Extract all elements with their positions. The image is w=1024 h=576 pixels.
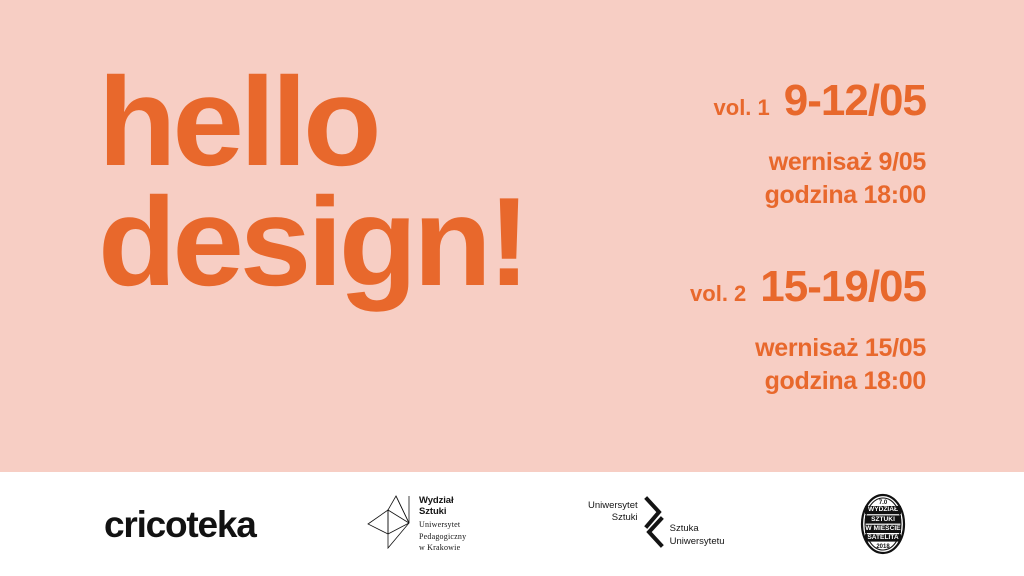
edition-vol-label: vol. 2 (690, 281, 746, 307)
wydzial-line-1: Wydział (419, 495, 466, 507)
seal-line-5: SATELITA (852, 535, 914, 542)
origami-triangle-icon (366, 494, 412, 555)
cricoteka-wordmark: cricoteka (104, 506, 256, 543)
edition-block-vol1: vol. 1 9-12/05 wernisaż 9/05 godzina 18:… (714, 76, 926, 210)
wydzial-line-2: Sztuki (419, 506, 466, 518)
edition-opening: wernisaż 15/05 (690, 334, 926, 363)
unisztuki-right-line-2: Uniwersytetu (670, 536, 725, 549)
wydzial-line-4: Pedagogiczny (419, 532, 466, 542)
headline-line-2: design! (98, 182, 526, 302)
edition-vol-label: vol. 1 (714, 95, 770, 121)
poster-canvas: hello design! vol. 1 9-12/05 wernisaż 9/… (0, 0, 1024, 576)
edition-block-vol2: vol. 2 15-19/05 wernisaż 15/05 godzina 1… (690, 262, 926, 396)
footer-logo-bar: cricoteka Wydział Sztuki Uniwersytet (0, 472, 1024, 576)
edition-date-range: 9-12/05 (784, 76, 926, 126)
edition-date-range: 15-19/05 (760, 262, 926, 312)
seal-line-3: SZTUKI (852, 517, 914, 524)
seal-line-2: WYDZIAŁ (852, 507, 914, 514)
page-title: hello design! (98, 62, 518, 301)
unisztuki-left-line-2: Sztuki (588, 512, 638, 525)
double-chevron-icon (641, 496, 667, 553)
edition-date-row: vol. 1 9-12/05 (714, 76, 926, 126)
logo-uniwersytet-sztuki: Uniwersytet Sztuki Sztuka Uniwersytetu (588, 472, 725, 576)
wydzial-line-5: w Krakowie (419, 543, 466, 553)
edition-date-row: vol. 2 15-19/05 (690, 262, 926, 312)
hero-band: hello design! vol. 1 9-12/05 wernisaż 9/… (0, 0, 1024, 472)
edition-opening: wernisaż 9/05 (714, 148, 926, 177)
wydzial-line-3: Uniwersytet (419, 520, 466, 530)
seal-line-4: W MIEŚCIE (852, 526, 914, 533)
unisztuki-left-line-1: Uniwersytet (588, 500, 638, 513)
seal-line-1: 7.0 (852, 500, 914, 506)
logo-cricoteka: cricoteka (104, 472, 256, 576)
edition-time: godzina 18:00 (690, 367, 926, 396)
edition-time: godzina 18:00 (714, 181, 926, 210)
headline-line-1: hello (98, 62, 526, 182)
unisztuki-right-line-1: Sztuka (670, 523, 725, 536)
logo-wydzial-sztuki: Wydział Sztuki Uniwersytet Pedagogiczny … (366, 472, 466, 576)
seal-line-6: 2018 (852, 544, 914, 550)
logo-satelita-seal: 7.0 WYDZIAŁ SZTUKI W MIEŚCIE SATELITA 20… (852, 472, 914, 576)
